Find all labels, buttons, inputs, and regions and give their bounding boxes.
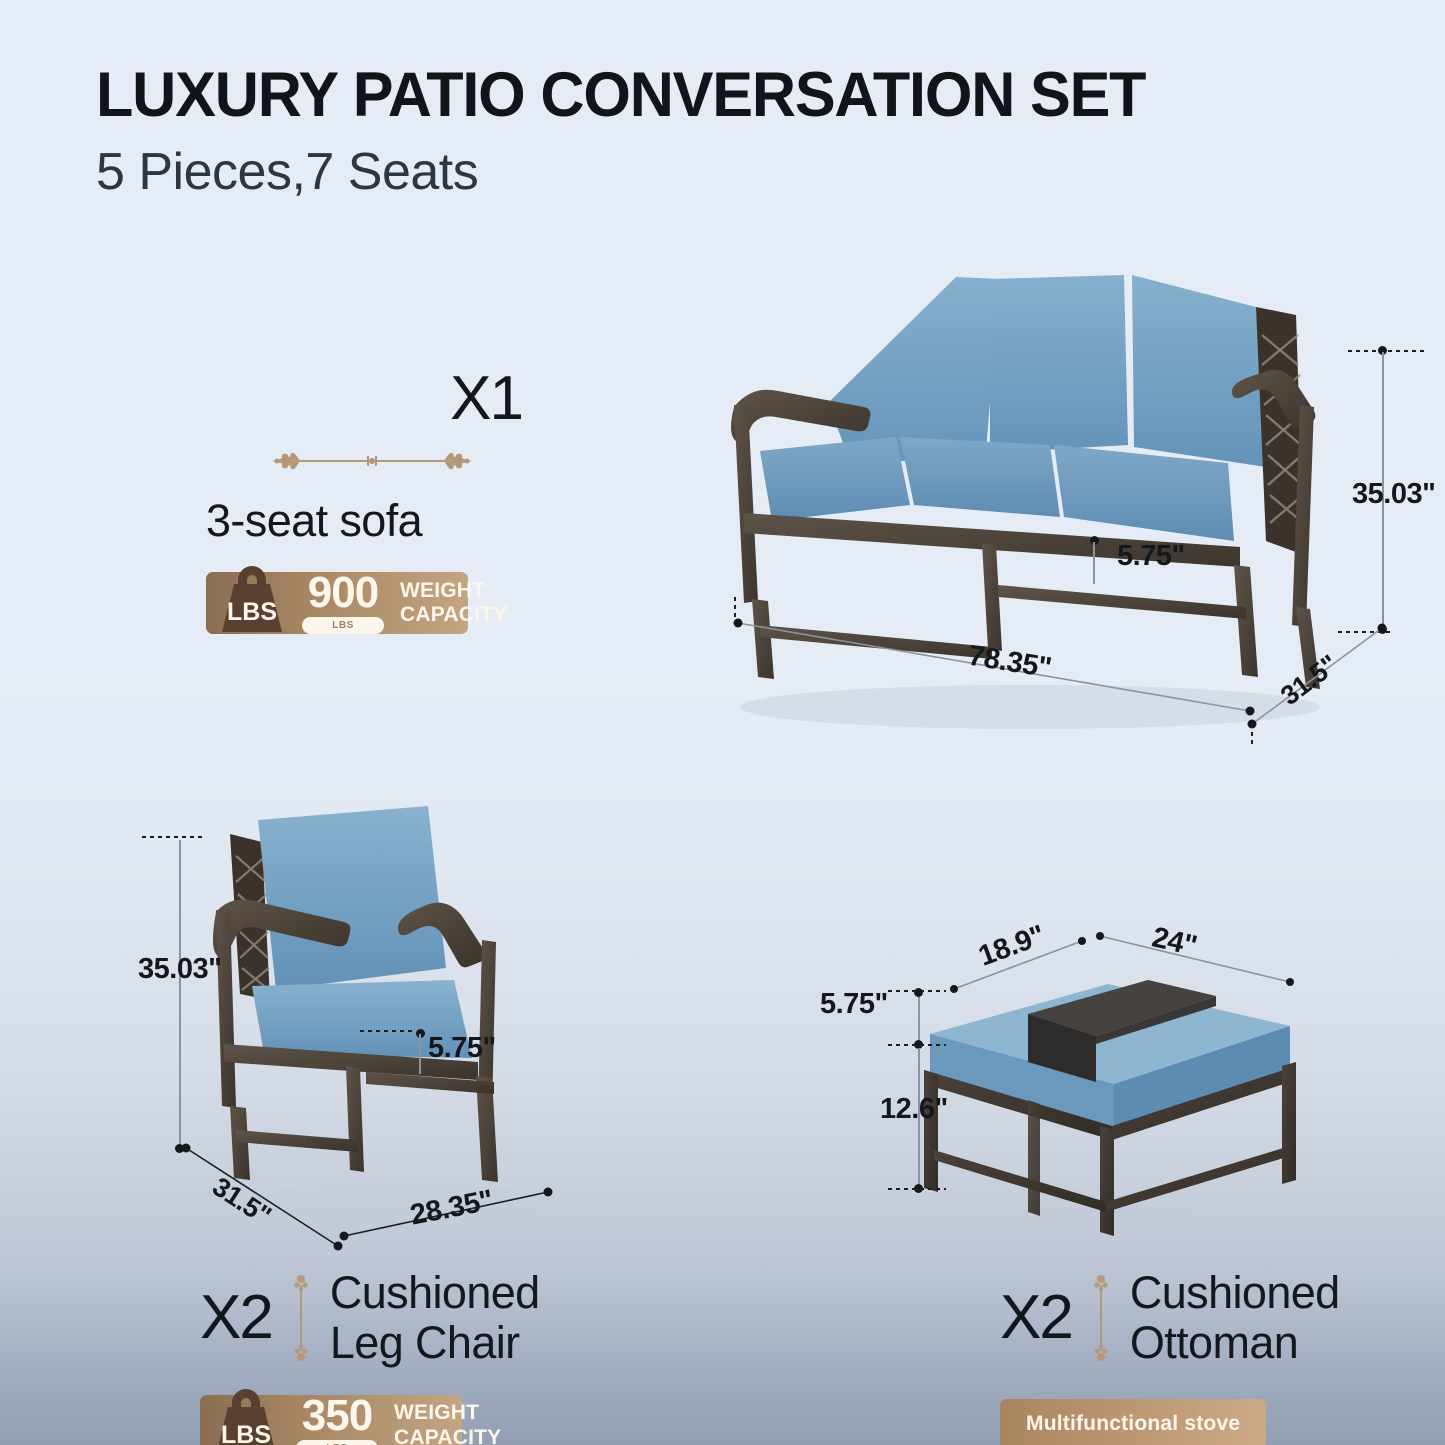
chair-weight-caption-1: WEIGHT — [394, 1401, 501, 1426]
weight-icon-label: LBS — [221, 1421, 271, 1445]
chair-weight-value: 350 — [302, 1395, 372, 1437]
chair-weight-unit-pill: LBS — [296, 1440, 378, 1445]
chair-weight-caption-2: CAPACITY — [394, 1426, 501, 1445]
weight-icon: LBS — [202, 1381, 290, 1445]
header: LUXURY PATIO CONVERSATION SET 5 Pieces,7… — [96, 62, 1178, 202]
chair-count: X2 — [200, 1287, 272, 1349]
weight-icon: LBS — [208, 558, 296, 636]
sofa-weight-value: 900 — [308, 572, 378, 614]
ottoman-name-line2: Ottoman — [1130, 1318, 1340, 1368]
sofa-dim-height: 35.03" — [1352, 478, 1435, 511]
page-subtitle: 5 Pieces,7 Seats — [96, 142, 1178, 202]
sofa-weight-unit-pill: LBS — [302, 617, 384, 634]
ottoman-width-dimline — [1090, 910, 1310, 990]
ottoman-dim-leg-height: 12.6" — [880, 1093, 948, 1126]
sofa-weight-caption-2: CAPACITY — [400, 603, 507, 628]
ornament-divider-horizontal — [266, 448, 478, 474]
ottoman-label-block: X2 Cushioned Ottoman Multifunctional sto… — [1000, 1268, 1340, 1445]
chair-back-cushion — [258, 806, 446, 990]
chair-dim-cushion: 5.75" — [428, 1032, 496, 1065]
chair-weight-capacity-badge: 350 LBS WEIGHT CAPACITY LBS — [200, 1395, 462, 1445]
sofa-weight-capacity-badge: 900 LBS WEIGHT CAPACITY LBS — [206, 572, 468, 634]
ottoman-dim-cushion: 5.75" — [820, 988, 888, 1021]
sofa-name: 3-seat sofa — [206, 496, 536, 546]
weight-icon-label: LBS — [227, 598, 277, 626]
sofa-weight-caption-1: WEIGHT — [400, 579, 507, 604]
ottoman-name-line1: Cushioned — [1130, 1268, 1340, 1318]
sofa-label-block: X1 3-seat sofa 900 — [206, 368, 536, 634]
ornament-divider-vertical — [292, 1271, 310, 1365]
ornament-divider-vertical — [1092, 1271, 1110, 1365]
chair-label-block: X2 Cushioned Leg Chair — [200, 1268, 540, 1445]
infographic-page: LUXURY PATIO CONVERSATION SET 5 Pieces,7… — [0, 0, 1445, 1445]
chair-name-line2: Leg Chair — [330, 1318, 540, 1368]
chair-dim-height: 35.03" — [138, 953, 221, 986]
sofa-count: X1 — [206, 368, 536, 430]
sofa-dim-cushion: 5.75" — [1117, 540, 1185, 573]
ottoman-feature-badge: Multifunctional stove — [1000, 1399, 1266, 1445]
chair-name-line1: Cushioned — [330, 1268, 540, 1318]
page-title: LUXURY PATIO CONVERSATION SET — [96, 62, 1145, 128]
ottoman-count: X2 — [1000, 1287, 1072, 1349]
